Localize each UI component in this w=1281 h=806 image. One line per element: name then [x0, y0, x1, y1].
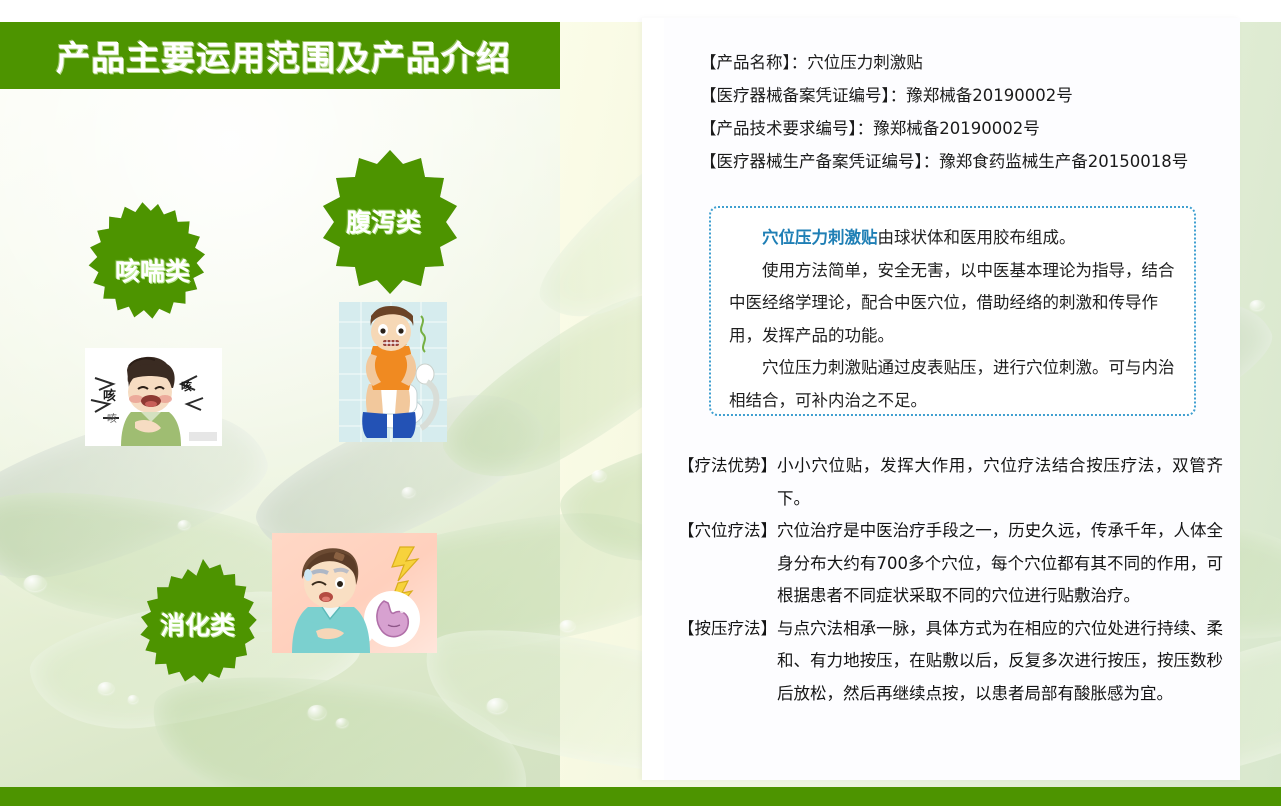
bullet-body: 穴位治疗是中医治疗手段之一，历史久远，传承千年，人体全身分布大约有700多个穴位…: [777, 515, 1223, 613]
bullet-tag: 【疗法优势】: [678, 450, 777, 483]
bullet-tag: 【按压疗法】: [678, 613, 777, 646]
category-badge-label: 腹泻类: [346, 203, 421, 239]
svg-text:咳: 咳: [103, 388, 116, 404]
spec-line: 【医疗器械备案凭证编号】：豫郑械备20190002号: [700, 79, 1220, 112]
category-badge-digestion[interactable]: 消化类: [133, 553, 273, 693]
spec-line: 【产品名称】：穴位压力刺激贴: [700, 46, 1220, 79]
product-name-highlight: 穴位压力刺激贴: [762, 228, 878, 247]
svg-text:咳: 咳: [107, 412, 117, 425]
bullet-item: 【按压疗法】 与点穴法相承一脉，具体方式为在相应的穴位处进行持续、柔和、有力地按…: [678, 613, 1223, 711]
category-badge-label: 咳喘类: [115, 252, 190, 288]
product-description-box: 穴位压力刺激贴由球状体和医用胶布组成。 使用方法简单，安全无害，以中医基本理论为…: [709, 206, 1196, 416]
diarrhea-boy-toilet-illustration: [339, 302, 447, 442]
bullet-body: 与点穴法相承一脉，具体方式为在相应的穴位处进行持续、柔和、有力地按压，在贴敷以后…: [777, 613, 1223, 711]
info-panel: 【产品名称】：穴位压力刺激贴 【医疗器械备案凭证编号】：豫郑械备20190002…: [642, 18, 1240, 780]
slide-root: 产品主要运用范围及产品介绍 咳喘类 腹泻类 消化类: [0, 0, 1281, 806]
description-line-1: 穴位压力刺激贴由球状体和医用胶布组成。: [729, 222, 1176, 255]
page-title: 产品主要运用范围及产品介绍: [56, 31, 511, 80]
bottom-accent-bar: [0, 787, 1281, 806]
product-spec-list: 【产品名称】：穴位压力刺激贴 【医疗器械备案凭证编号】：豫郑械备20190002…: [700, 46, 1220, 178]
description-line-1-rest: 由球状体和医用胶布组成。: [878, 228, 1076, 247]
spec-line: 【医疗器械生产备案凭证编号】：豫郑食药监械生产备20150018号: [700, 145, 1220, 178]
bullet-body: 小小穴位贴，发挥大作用，穴位疗法结合按压疗法，双管齐下。: [777, 450, 1223, 515]
description-paragraph-3: 穴位压力刺激贴通过皮表贴压，进行穴位刺激。可与内治相结合，可补内治之不足。: [729, 352, 1176, 417]
category-badge-cough[interactable]: 咳喘类: [88, 198, 228, 338]
category-badge-diarrhea[interactable]: 腹泻类: [315, 145, 467, 297]
description-paragraph-2: 使用方法简单，安全无害，以中医基本理论为指导，结合中医经络学理论，配合中医穴位，…: [729, 255, 1176, 353]
stomach-ache-boy-illustration: [272, 533, 437, 653]
svg-text:咳: 咳: [181, 379, 192, 393]
coughing-boy-illustration: 咳 咳 咳: [85, 348, 222, 446]
bullet-item: 【疗法优势】 小小穴位贴，发挥大作用，穴位疗法结合按压疗法，双管齐下。: [678, 450, 1223, 515]
slide-title-bar: 产品主要运用范围及产品介绍: [0, 22, 560, 89]
bullet-item: 【穴位疗法】 穴位治疗是中医治疗手段之一，历史久远，传承千年，人体全身分布大约有…: [678, 515, 1223, 613]
bullet-tag: 【穴位疗法】: [678, 515, 777, 548]
therapy-bullet-list: 【疗法优势】 小小穴位贴，发挥大作用，穴位疗法结合按压疗法，双管齐下。 【穴位疗…: [678, 450, 1223, 710]
spec-line: 【产品技术要求编号】：豫郑械备20190002号: [700, 112, 1220, 145]
category-badge-label: 消化类: [160, 606, 235, 642]
